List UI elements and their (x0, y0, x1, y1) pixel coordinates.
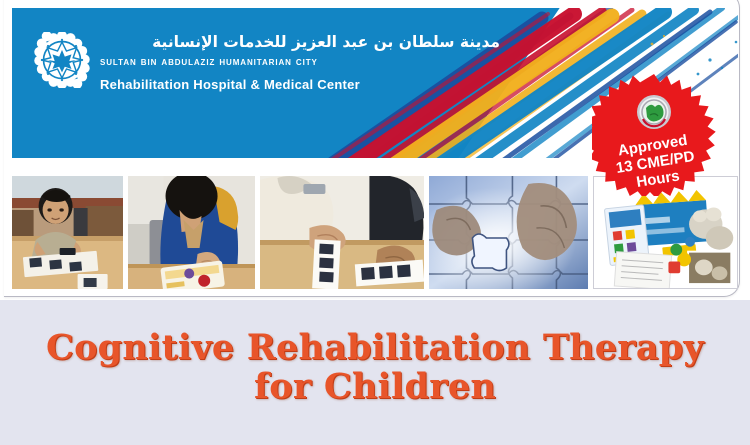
photo-hands-assembling-jigsaw-puzzle (429, 176, 588, 289)
photo-child-blue-uniform-worksheet (128, 176, 255, 289)
photo-therapist-hands-card-sorting (260, 176, 424, 289)
poster-title-line1: Cognitive Rehabilitation Therapy (0, 328, 750, 367)
approved-cme-badge: Approved 13 CME/PD Hours (592, 72, 716, 196)
poster-title-line2: for Children (0, 367, 750, 406)
photo-boy-with-picture-cards (12, 176, 123, 289)
brand-text-block: مدينة سلطان بن عبد العزيز للخدمات الإنسا… (100, 32, 500, 92)
brand-arabic-title: مدينة سلطان بن عبد العزيز للخدمات الإنسا… (100, 32, 500, 53)
brand-english-title: Sultan Bin Abdulaziz Humanitarian City (100, 55, 500, 68)
islamic-star-rosette-logo-icon (34, 32, 90, 88)
brand-english-subtitle: Rehabilitation Hospital & Medical Center (100, 77, 500, 92)
course-flyer: مدينة سلطان بن عبد العزيز للخدمات الإنسا… (0, 0, 750, 445)
poster-title: Cognitive Rehabilitation Therapy for Chi… (0, 328, 750, 406)
